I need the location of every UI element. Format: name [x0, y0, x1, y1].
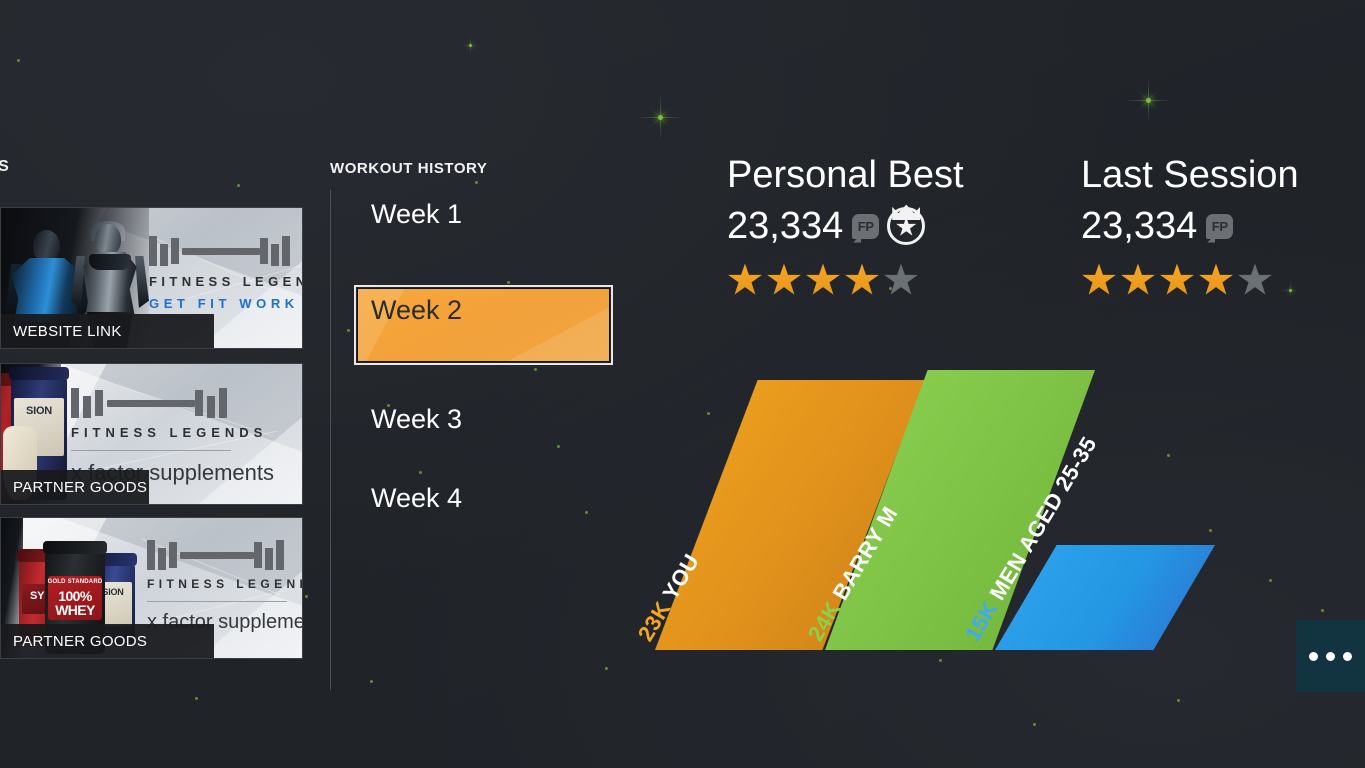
- stat-title: Last Session: [1081, 152, 1299, 198]
- brand-name: FITNESS LEGENDS: [147, 577, 287, 591]
- comparison-chart: 23K YOU 24K BARRY M 15K MEN AGED 25-35: [620, 350, 1240, 650]
- barbell-icon: [149, 234, 293, 268]
- divider-rule: [147, 601, 287, 602]
- stat-last-session: Last Session 23,334 FP: [1081, 152, 1299, 297]
- stat-value-row: 23,334 FP: [1081, 202, 1299, 250]
- week-label: Week 1: [358, 193, 462, 230]
- fitness-points-icon: FP: [1206, 214, 1233, 239]
- rating-stars: [727, 263, 964, 297]
- barbell-icon: [71, 386, 231, 420]
- star-icon-filled: [805, 263, 841, 297]
- stat-value: 23,334: [727, 204, 843, 248]
- star-icon-filled: [1081, 263, 1117, 297]
- week-label: Week 4: [358, 477, 462, 514]
- brand-name: FITNESS LEGENDS: [149, 274, 293, 289]
- promo-card-partner-goods-1[interactable]: SION FITNESS LEGENDS x factor supplement…: [0, 363, 303, 505]
- rating-stars: [1081, 263, 1299, 297]
- star-icon-filled: [1120, 263, 1156, 297]
- promotions-heading: KS: [0, 158, 9, 176]
- star-icon-filled: [766, 263, 802, 297]
- promo-card-website-link[interactable]: FITNESS LEGENDS GET FIT WORK OUT WEBSITE…: [0, 207, 303, 349]
- fp-badge-text: FP: [858, 220, 874, 233]
- week-item-4[interactable]: Week 4: [358, 477, 609, 549]
- tub-label-whey: 100% WHEY: [45, 589, 105, 617]
- ellipsis-dot-icon: [1309, 652, 1318, 661]
- promotions-column: KS: [0, 0, 312, 768]
- brand-tagline: GET FIT WORK OUT: [149, 296, 293, 311]
- app-root: KS: [0, 0, 1365, 768]
- promo-caption: PARTNER GOODS: [1, 624, 214, 658]
- barbell-icon: [147, 538, 287, 572]
- column-divider: [330, 190, 331, 690]
- week-label: Week 3: [358, 398, 462, 435]
- fitness-points-icon: FP: [852, 214, 879, 239]
- star-icon-filled: [727, 263, 763, 297]
- more-options-button[interactable]: [1296, 620, 1365, 692]
- divider-rule: [71, 450, 231, 451]
- brand-name: FITNESS LEGENDS: [71, 425, 231, 440]
- promo-caption: WEBSITE LINK: [1, 314, 214, 348]
- week-item-3[interactable]: Week 3: [358, 398, 609, 470]
- fitness-legends-logo: FITNESS LEGENDS x factor supplements: [147, 538, 287, 634]
- star-icon-empty: [1237, 263, 1273, 297]
- workout-history-heading: WORKOUT HISTORY: [330, 160, 487, 177]
- tub-label-gold-standard: GOLD STANDARD: [45, 579, 105, 585]
- week-item-2[interactable]: Week 2: [358, 289, 609, 361]
- stat-personal-best: Personal Best 23,334 FP: [727, 152, 964, 297]
- ellipsis-dot-icon: [1326, 652, 1335, 661]
- tub-label-text: SION: [11, 406, 67, 417]
- week-label: Week 2: [358, 289, 462, 326]
- chart-bar-men-aged: 15K MEN AGED 25-35: [995, 545, 1215, 650]
- stat-title: Personal Best: [727, 152, 964, 198]
- promo-card-partner-goods-2[interactable]: SYN SION GOLD STANDARD 100% WHEY: [0, 517, 303, 659]
- star-icon-empty: [883, 263, 919, 297]
- ellipsis-dot-icon: [1343, 652, 1352, 661]
- stat-value: 23,334: [1081, 204, 1197, 248]
- fp-badge-text: FP: [1212, 220, 1228, 233]
- star-icon-filled: [844, 263, 880, 297]
- fitness-legends-logo: FITNESS LEGENDS GET FIT WORK OUT: [149, 234, 293, 311]
- week-item-1[interactable]: Week 1: [358, 193, 609, 265]
- star-icon-filled: [1159, 263, 1195, 297]
- medal-star-icon: [887, 207, 925, 245]
- star-icon-filled: [1198, 263, 1234, 297]
- promo-caption: PARTNER GOODS: [1, 470, 149, 504]
- stat-value-row: 23,334 FP: [727, 202, 964, 250]
